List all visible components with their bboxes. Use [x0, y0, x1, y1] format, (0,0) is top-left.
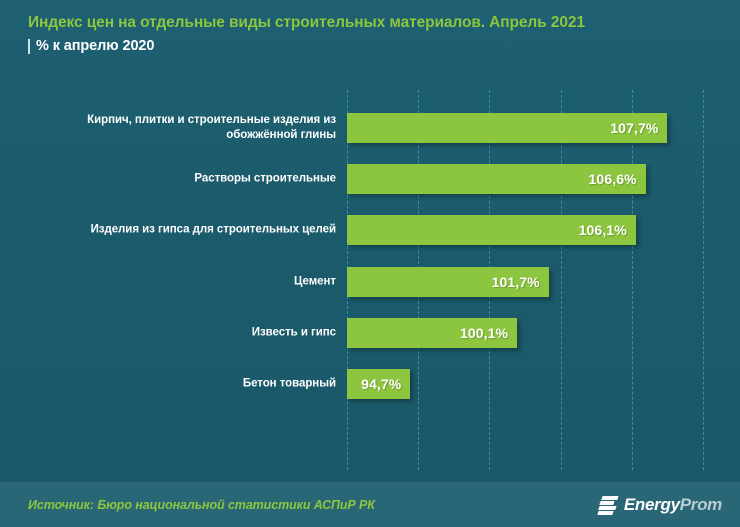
bar-value-label: 106,6%: [589, 171, 637, 187]
chart-bar-row: Кирпич, плитки и строительные изделия из…: [0, 113, 740, 143]
chart-bar-row: Растворы строительные106,6%: [0, 164, 740, 194]
bar: 101,7%: [347, 267, 549, 297]
bar-category-label: Бетон товарный: [16, 377, 336, 392]
bar-category-label: Кирпич, плитки и строительные изделия из…: [16, 113, 336, 143]
energyprom-logo: EnergyProm: [598, 495, 726, 515]
bar-value-label: 107,7%: [610, 120, 658, 136]
source-note: Источник: Бюро национальной статистики А…: [28, 498, 375, 512]
subtitle-bar-icon: [28, 39, 30, 54]
chart-bar-row: Цемент101,7%: [0, 267, 740, 297]
logo-wordmark: EnergyProm: [624, 495, 722, 515]
chart-plot-area: Кирпич, плитки и строительные изделия из…: [0, 90, 740, 470]
bar-value-label: 101,7%: [492, 274, 540, 290]
chart-page: Индекс цен на отдельные виды строительны…: [0, 0, 740, 527]
logo-prom-text: Prom: [680, 495, 722, 514]
bar-value-label: 100,1%: [460, 325, 508, 341]
bar-category-label: Изделия из гипса для строительных целей: [16, 223, 336, 238]
logo-energy-text: Energy: [624, 495, 680, 514]
bar-category-label: Известь и гипс: [16, 325, 336, 340]
chart-bar-row: Известь и гипс100,1%: [0, 318, 740, 348]
bar: 106,1%: [347, 215, 636, 245]
page-title: Индекс цен на отдельные виды строительны…: [28, 12, 716, 34]
bar: 107,7%: [347, 113, 667, 143]
chart-bars: Кирпич, плитки и строительные изделия из…: [0, 90, 740, 470]
chart-footer: Источник: Бюро национальной статистики А…: [0, 483, 740, 527]
bar-value-label: 106,1%: [579, 222, 627, 238]
bar: 94,7%: [347, 369, 410, 399]
chart-bar-row: Бетон товарный94,7%: [0, 369, 740, 399]
bar-category-label: Растворы строительные: [16, 172, 336, 187]
bar-category-label: Цемент: [16, 274, 336, 289]
chart-header: Индекс цен на отдельные виды строительны…: [0, 0, 740, 76]
page-subtitle-row: % к апрелю 2020: [28, 35, 716, 57]
energyprom-e-icon: [598, 495, 619, 515]
page-subtitle: % к апрелю 2020: [36, 35, 154, 57]
bar-value-label: 94,7%: [361, 376, 401, 392]
bar: 106,6%: [347, 164, 646, 194]
chart-bar-row: Изделия из гипса для строительных целей1…: [0, 215, 740, 245]
bar: 100,1%: [347, 318, 517, 348]
